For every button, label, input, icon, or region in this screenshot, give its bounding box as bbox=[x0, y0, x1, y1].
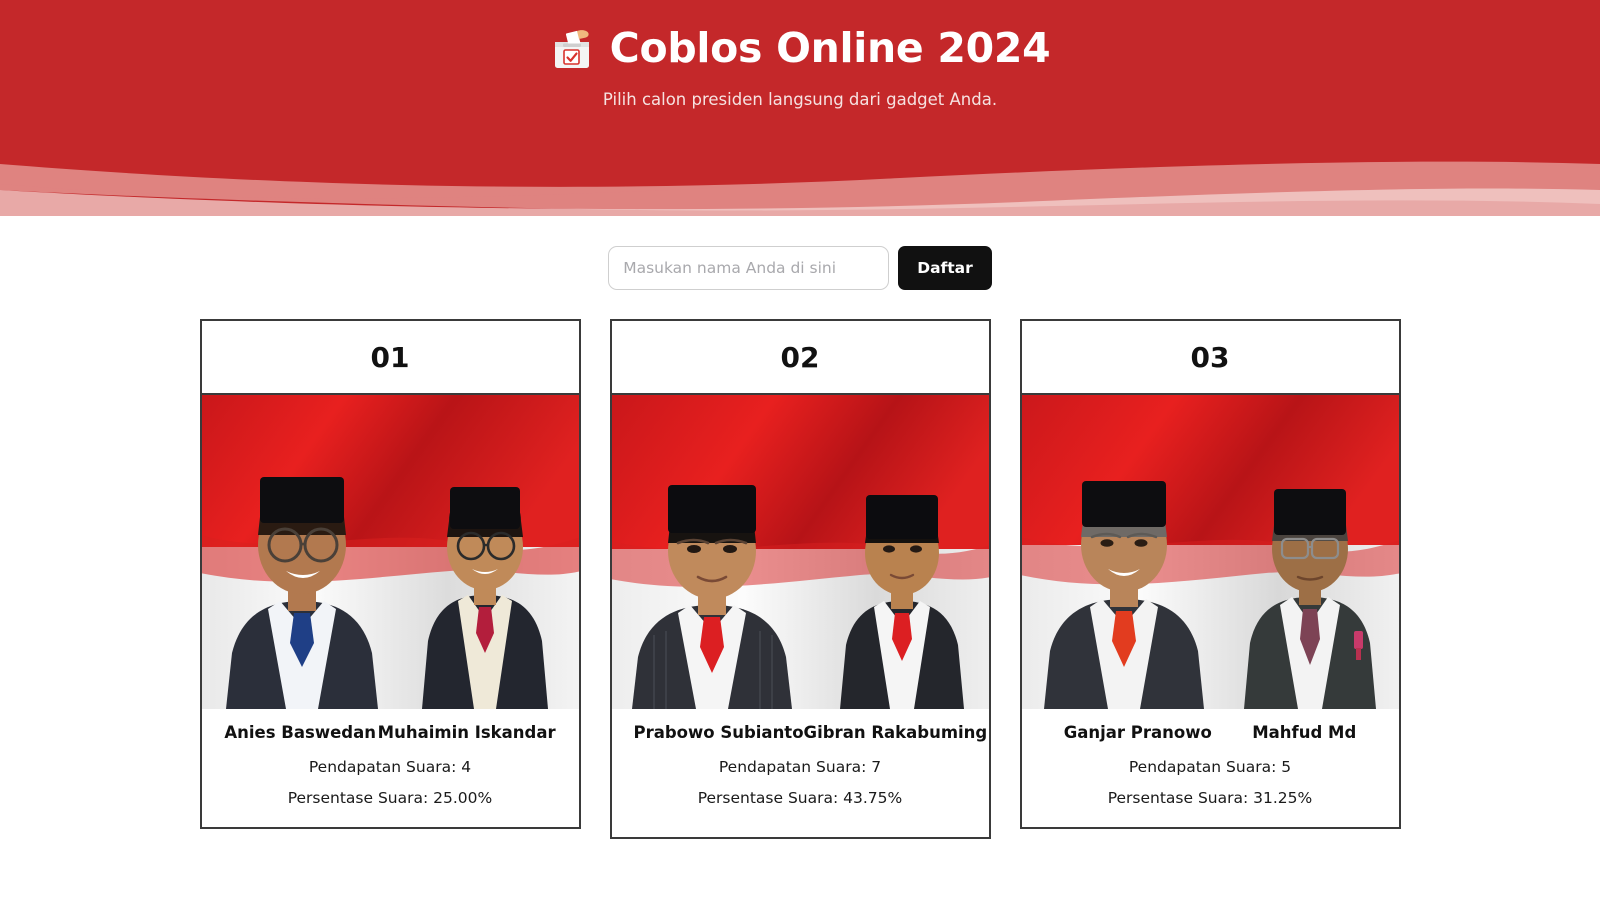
vote-count: Pendapatan Suara: 4 bbox=[212, 758, 569, 776]
candidate-names: Ganjar Pranowo Mahfud Md bbox=[1032, 723, 1389, 742]
candidate-card[interactable]: 03 bbox=[1020, 319, 1401, 829]
president-name: Prabowo Subianto bbox=[634, 723, 804, 742]
vote-percentage: Persentase Suara: 43.75% bbox=[622, 789, 979, 807]
candidate-photo bbox=[202, 395, 579, 709]
candidate-info: Anies Baswedan Muhaimin Iskandar Pendapa… bbox=[202, 709, 579, 827]
candidate-card[interactable]: 01 bbox=[200, 319, 581, 829]
candidate-names: Anies Baswedan Muhaimin Iskandar bbox=[212, 723, 569, 742]
page-subtitle: Pilih calon presiden langsung dari gadge… bbox=[0, 90, 1600, 109]
candidate-number: 02 bbox=[612, 321, 989, 395]
page-header: Coblos Online 2024 Pilih calon presiden … bbox=[0, 0, 1600, 216]
vice-president-name: Muhaimin Iskandar bbox=[378, 723, 556, 742]
vote-count: Pendapatan Suara: 7 bbox=[622, 758, 979, 776]
candidate-number: 01 bbox=[202, 321, 579, 395]
header-wave-decoration bbox=[0, 106, 1600, 216]
register-form: Daftar bbox=[0, 246, 1600, 290]
name-input[interactable] bbox=[608, 246, 889, 290]
candidate-photo bbox=[1022, 395, 1399, 709]
page-title-text: Coblos Online 2024 bbox=[610, 26, 1051, 71]
vote-percentage: Persentase Suara: 25.00% bbox=[212, 789, 569, 807]
candidate-info: Prabowo Subianto Gibran Rakabuming Penda… bbox=[612, 709, 989, 837]
candidate-info: Ganjar Pranowo Mahfud Md Pendapatan Suar… bbox=[1022, 709, 1399, 827]
president-name: Anies Baswedan bbox=[224, 723, 376, 742]
vote-count: Pendapatan Suara: 5 bbox=[1032, 758, 1389, 776]
candidate-card-list: 01 bbox=[0, 319, 1600, 839]
vice-president-name: Gibran Rakabuming bbox=[804, 723, 988, 742]
page-title: Coblos Online 2024 bbox=[0, 26, 1600, 72]
candidate-number: 03 bbox=[1022, 321, 1399, 395]
candidate-names: Prabowo Subianto Gibran Rakabuming bbox=[622, 723, 979, 742]
ballot-box-icon bbox=[550, 26, 594, 72]
candidate-photo bbox=[612, 395, 989, 709]
candidate-card[interactable]: 02 bbox=[610, 319, 991, 839]
president-name: Ganjar Pranowo bbox=[1064, 723, 1212, 742]
vice-president-name: Mahfud Md bbox=[1252, 723, 1356, 742]
vote-percentage: Persentase Suara: 31.25% bbox=[1032, 789, 1389, 807]
register-button[interactable]: Daftar bbox=[898, 246, 992, 290]
